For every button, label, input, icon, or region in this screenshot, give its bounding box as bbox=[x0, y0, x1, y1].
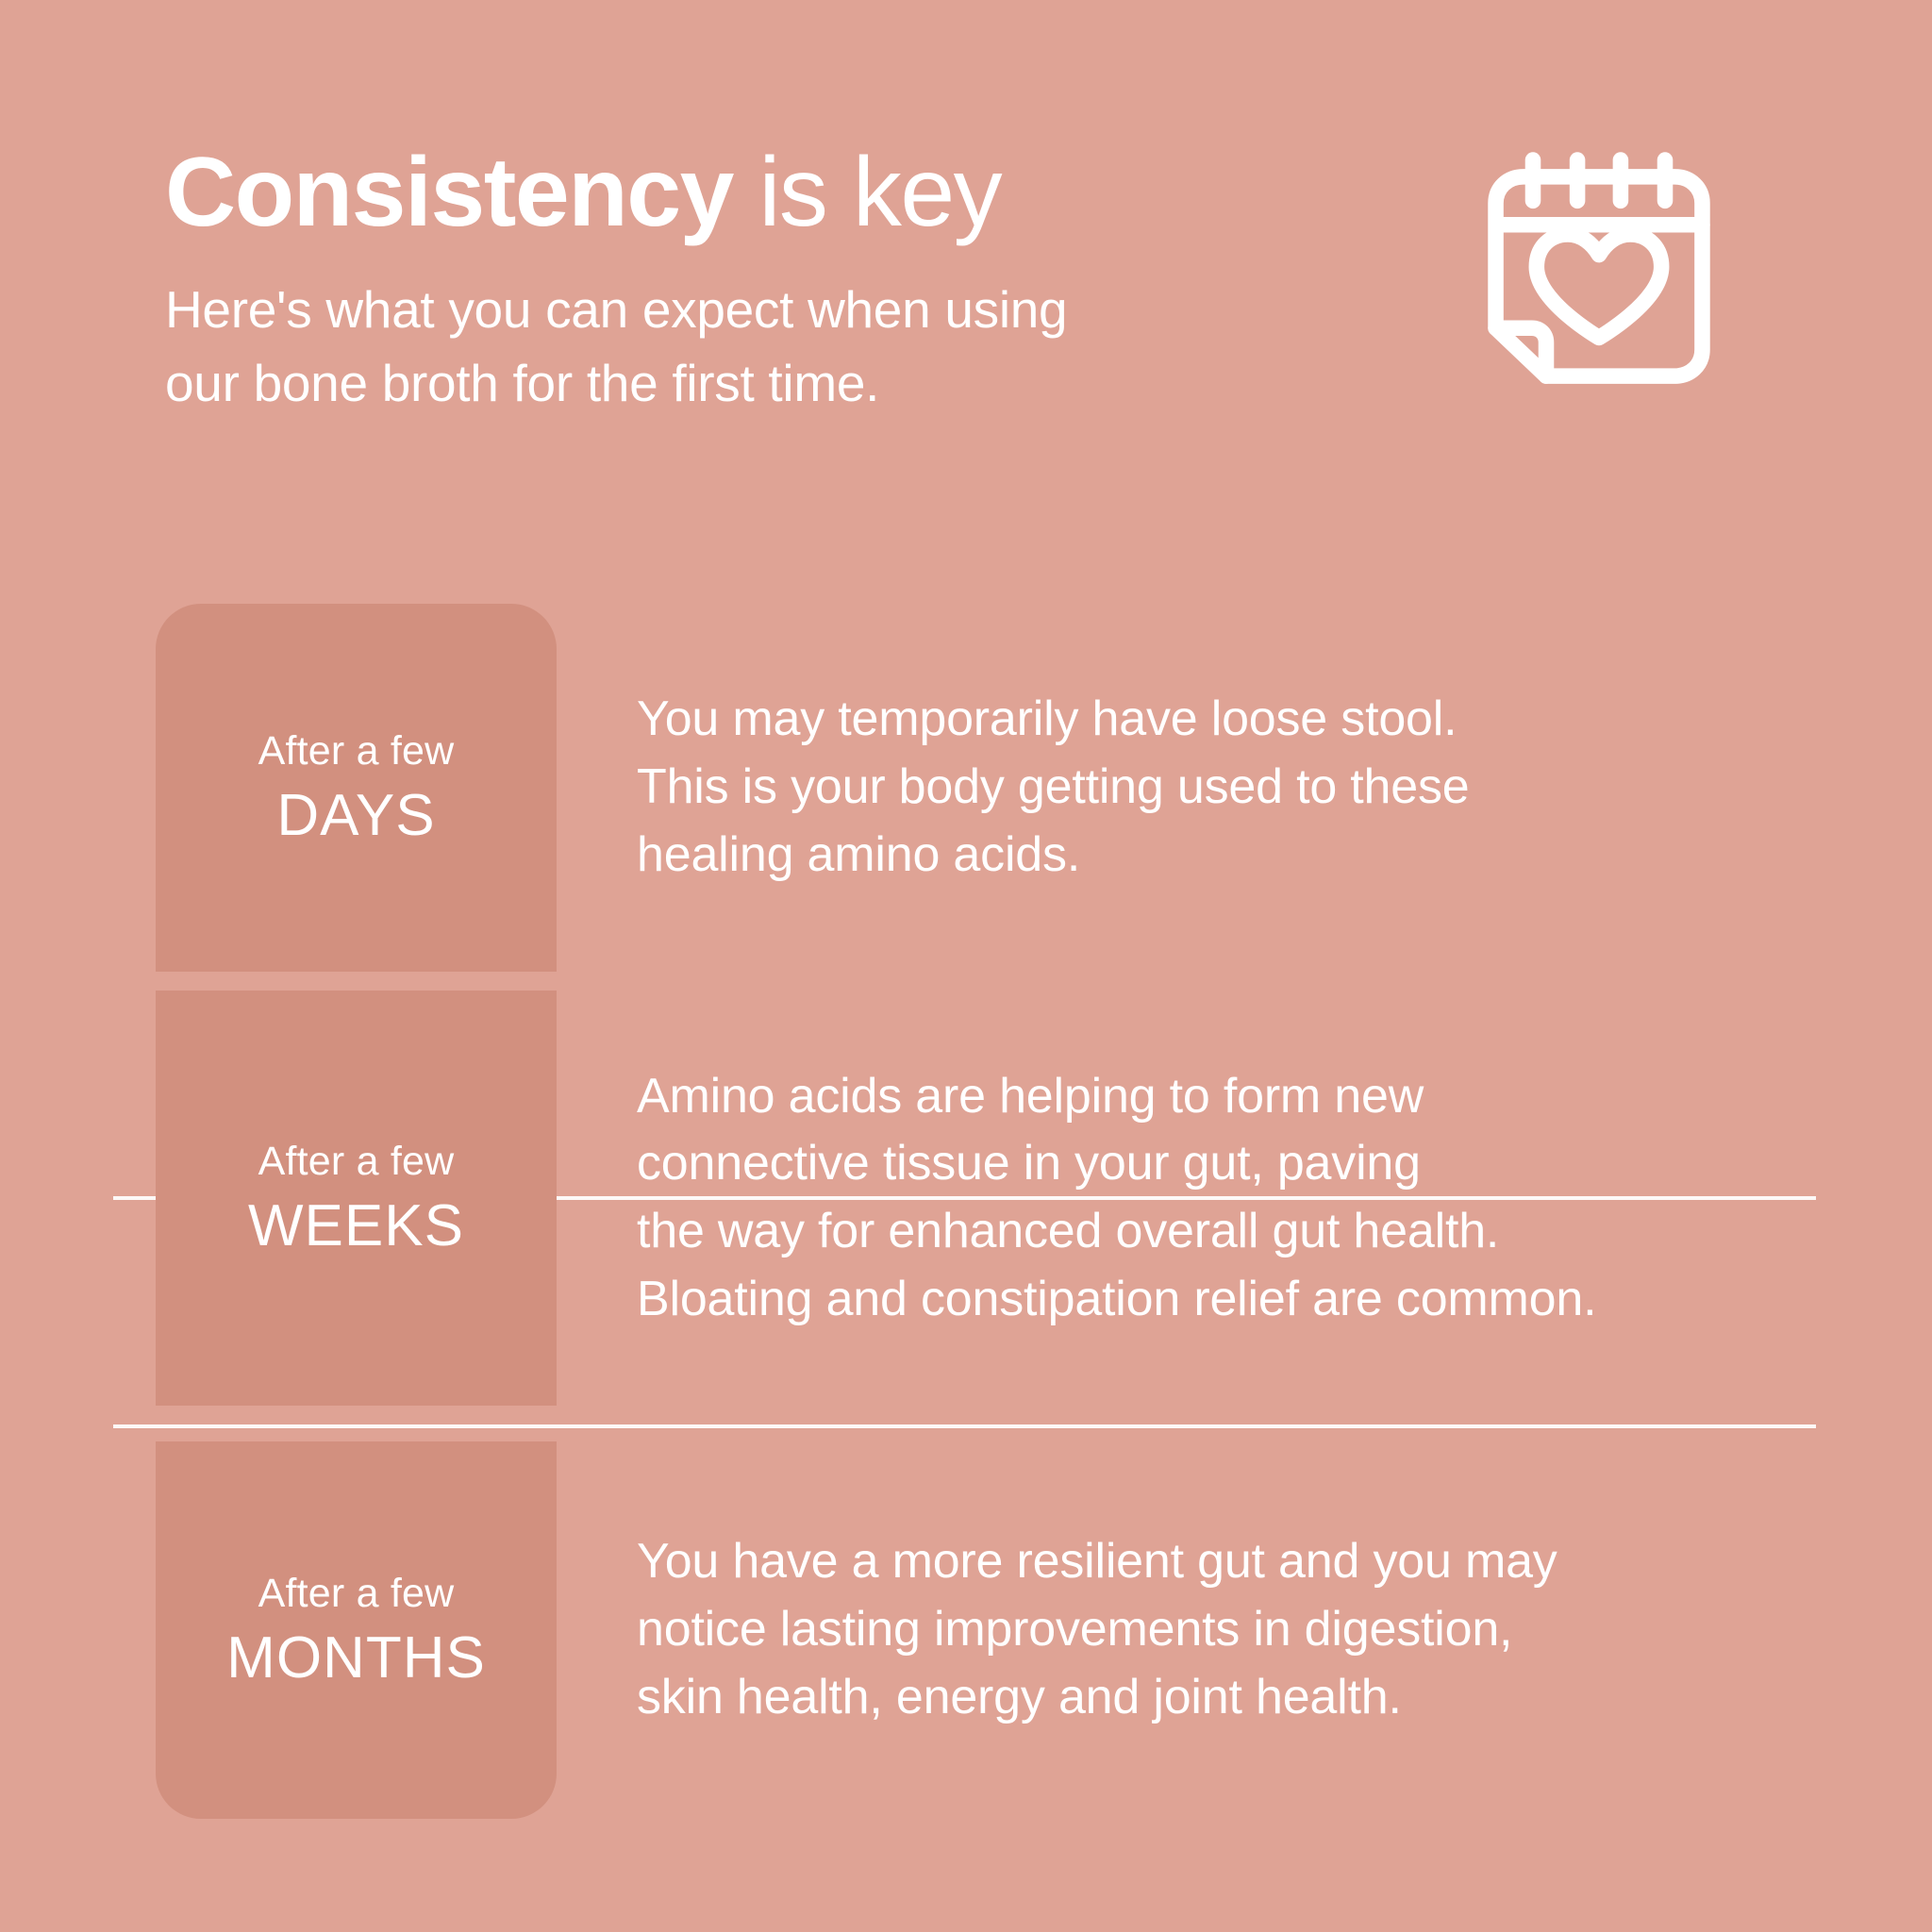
timeline-body-line: You have a more resilient gut and you ma… bbox=[637, 1528, 1894, 1596]
timeline-body-line: Amino acids are helping to form new bbox=[637, 1063, 1894, 1131]
timeline-body-line: notice lasting improvements in digestion… bbox=[637, 1596, 1894, 1664]
timeline-label-big: DAYS bbox=[276, 784, 435, 848]
timeline-label-small: After a few bbox=[258, 1138, 455, 1187]
timeline-label-small: After a few bbox=[258, 727, 455, 776]
timeline-row-days: After a few DAYS You may temporarily hav… bbox=[0, 604, 1932, 972]
timeline-body-months: You have a more resilient gut and you ma… bbox=[557, 1441, 1932, 1819]
timeline-body-line: skin health, energy and joint health. bbox=[637, 1664, 1894, 1732]
timeline-body-line: Bloating and constipation relief are com… bbox=[637, 1266, 1894, 1334]
timeline-label-days: After a few DAYS bbox=[156, 604, 557, 972]
timeline-label-months: After a few MONTHS bbox=[156, 1441, 557, 1819]
timeline-body-line: healing amino acids. bbox=[637, 822, 1894, 890]
timeline-label-weeks: After a few WEEKS bbox=[156, 991, 557, 1406]
page-title-strong: Consistency bbox=[165, 138, 733, 247]
timeline-label-small: After a few bbox=[258, 1570, 455, 1619]
timeline-body-days: You may temporarily have loose stool. Th… bbox=[557, 604, 1932, 972]
page-subtitle-line-2: our bone broth for the first time. bbox=[165, 346, 1278, 420]
page-title: Consistency is key bbox=[165, 142, 1278, 244]
timeline-row-weeks: After a few WEEKS Amino acids are helpin… bbox=[0, 972, 1932, 1424]
timeline-label-big: MONTHS bbox=[226, 1626, 486, 1690]
page-title-light: is key bbox=[733, 138, 1001, 247]
calendar-heart-icon bbox=[1467, 149, 1731, 404]
timeline-body-line: This is your body getting used to these bbox=[637, 754, 1894, 822]
header: Consistency is key Here's what you can e… bbox=[165, 142, 1825, 420]
timeline-divider-2 bbox=[113, 1424, 1816, 1428]
page-subtitle: Here's what you can expect when using ou… bbox=[165, 273, 1278, 420]
timeline-row-months: After a few MONTHS You have a more resil… bbox=[0, 1424, 1932, 1840]
timeline-body-line: You may temporarily have loose stool. bbox=[637, 686, 1894, 754]
page-subtitle-line-1: Here's what you can expect when using bbox=[165, 273, 1278, 346]
timeline-body-line: connective tissue in your gut, paving bbox=[637, 1130, 1894, 1198]
timeline: After a few DAYS You may temporarily hav… bbox=[0, 604, 1932, 1840]
header-text-group: Consistency is key Here's what you can e… bbox=[165, 142, 1278, 420]
timeline-label-big: WEEKS bbox=[248, 1194, 464, 1258]
timeline-body-line: the way for enhanced overall gut health. bbox=[637, 1198, 1894, 1266]
